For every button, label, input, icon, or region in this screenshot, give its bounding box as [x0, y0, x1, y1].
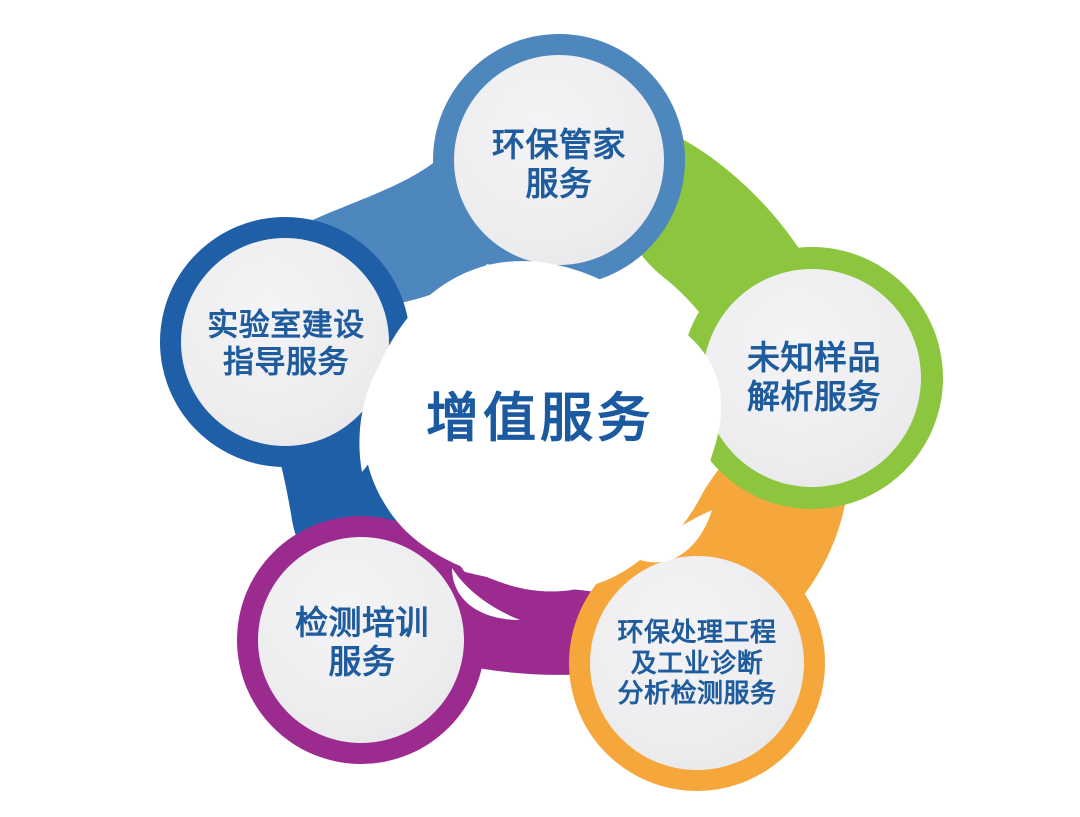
petal-head-top[interactable]	[433, 34, 685, 286]
center-title: 增值服务	[426, 376, 654, 452]
petal-head-right[interactable]	[681, 247, 943, 509]
diagram-canvas: 增值服务 环保管家 服务 未知样品 解析服务 环保处理工程 及工业诊断 分析检测…	[0, 0, 1080, 817]
